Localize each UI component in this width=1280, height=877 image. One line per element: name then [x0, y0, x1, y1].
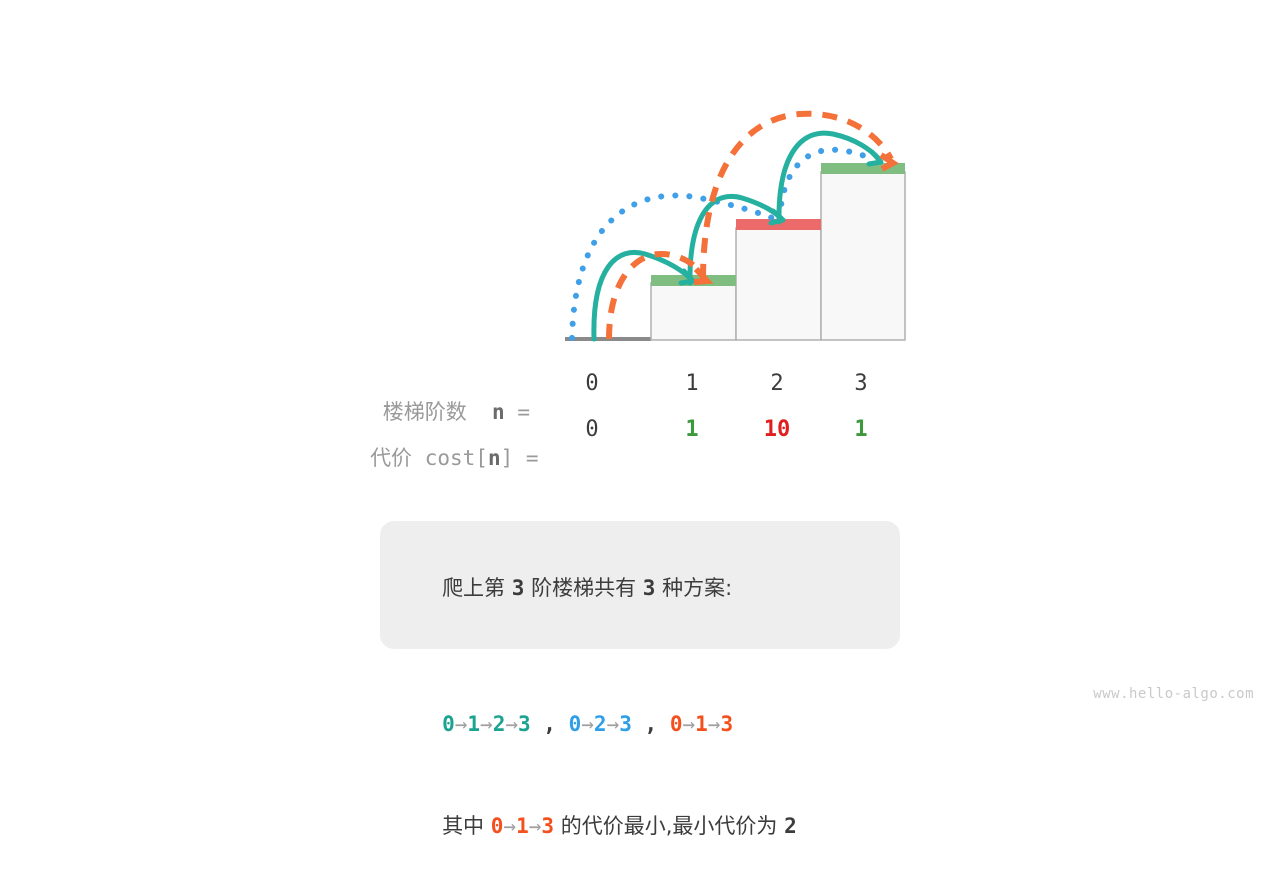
path-1-node-0: 0 [442, 712, 455, 736]
step-2-block [736, 228, 821, 340]
path-2-node-1: 2 [594, 712, 607, 736]
path-1-arrow-0: → [455, 712, 468, 736]
path-separator-1: , [531, 712, 569, 736]
caption-line1-a: 爬上第 [442, 576, 512, 600]
teal-arrow-head-3 [869, 152, 881, 164]
best-path-arrow-0: → [503, 814, 516, 838]
path-3-node-2: 3 [720, 712, 733, 736]
caption-line-3: 其中 0→1→3 的代价最小,最小代价为 2 [402, 775, 900, 877]
best-path-node-2: 3 [541, 814, 554, 838]
diagram-stage: 楼梯阶数 n = 代价 cost[n] = 0 1 2 3 0 1 10 1 爬… [0, 0, 1280, 720]
best-path-arrow-1: → [529, 814, 542, 838]
watermark: www.hello-algo.com [1093, 686, 1254, 702]
path-separator-2: , [632, 712, 670, 736]
caption-line-2: 0→1→2→3 , 0→2→3 , 0→1→3 [402, 639, 900, 775]
caption-line3-b: 的代价最小,最小代价为 [554, 814, 784, 838]
step-3-block [821, 172, 905, 340]
path-1-node-1: 1 [467, 712, 480, 736]
caption-line1-count: 3 [643, 576, 656, 600]
path-2-node-0: 0 [569, 712, 582, 736]
path-2-node-2: 3 [619, 712, 632, 736]
step-1-block [651, 283, 736, 340]
best-path-node-0: 0 [491, 814, 504, 838]
path-1-node-2: 2 [493, 712, 506, 736]
best-path-node-1: 1 [516, 814, 529, 838]
path-3-node-0: 0 [670, 712, 683, 736]
path-3-arrow-1: → [708, 712, 721, 736]
path-3-node-1: 1 [695, 712, 708, 736]
path-1-arrow-1: → [480, 712, 493, 736]
caption-min-cost: 2 [784, 814, 797, 838]
caption-line1-b: 阶楼梯共有 [524, 576, 642, 600]
caption-line1-c: 种方案: [655, 576, 732, 600]
caption-line1-n: 3 [512, 576, 525, 600]
caption-box: 爬上第 3 阶楼梯共有 3 种方案: 0→1→2→3 , 0→2→3 , 0→1… [380, 521, 900, 649]
path-2-arrow-1: → [607, 712, 620, 736]
path-1-node-3: 3 [518, 712, 531, 736]
path-1-arrow-2: → [505, 712, 518, 736]
path-3-arrow-0: → [682, 712, 695, 736]
caption-line-1: 爬上第 3 阶楼梯共有 3 种方案: [402, 537, 900, 639]
path-2-arrow-0: → [581, 712, 594, 736]
caption-line3-a: 其中 [442, 814, 491, 838]
